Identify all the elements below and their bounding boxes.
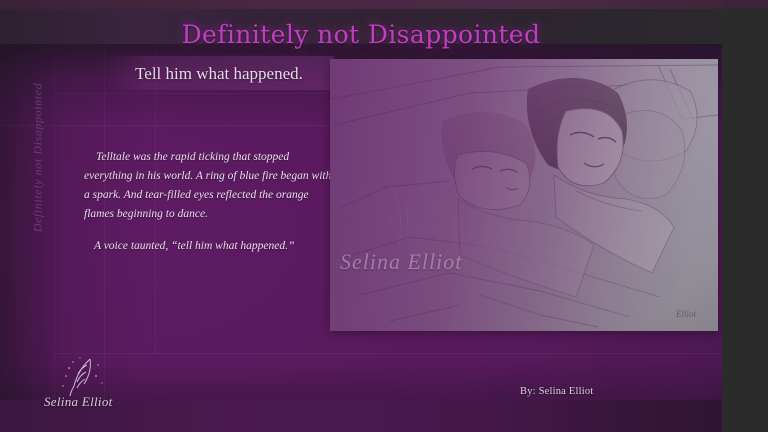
artwork-canvas <box>330 59 718 331</box>
spine-title-text: Definitely not Disappointed <box>31 68 46 248</box>
right-gutter <box>722 0 768 432</box>
body-text-block: Telltale was the rapid ticking that stop… <box>84 148 336 256</box>
brand-logo: Selina Elliot <box>44 356 164 414</box>
brand-name: Selina Elliot <box>44 394 113 410</box>
page-subtitle: Tell him what happened. <box>104 60 334 88</box>
top-accent-band <box>0 0 768 9</box>
quill-feather-icon <box>60 356 108 398</box>
slide-canvas: Definitely not Disappointed Tell him wha… <box>0 0 768 432</box>
sleeping-couple-sketch-icon <box>330 59 718 331</box>
page-title: Definitely not Disappointed <box>0 20 722 49</box>
body-paragraph: Telltale was the rapid ticking that stop… <box>84 148 336 224</box>
right-gutter-accent <box>722 0 768 9</box>
artwork-image[interactable]: Selina Elliot Elliot <box>330 59 718 331</box>
body-paragraph: A voice taunted, “tell him what happened… <box>84 237 336 256</box>
author-credit: By: Selina Elliot <box>520 386 593 397</box>
